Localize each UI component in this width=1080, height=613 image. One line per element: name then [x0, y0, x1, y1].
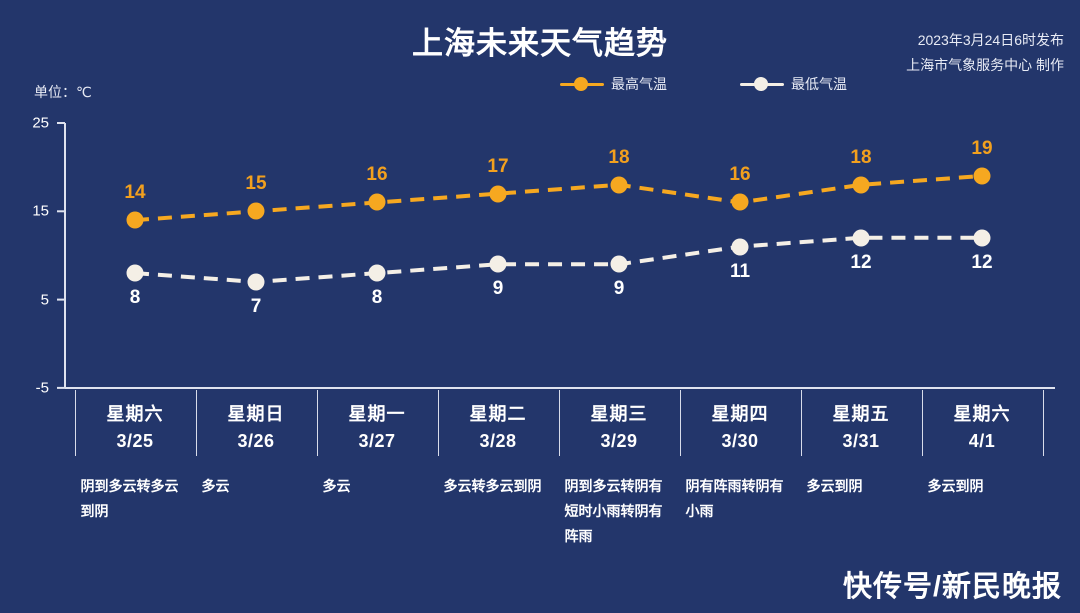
day-name: 星期五	[801, 400, 922, 426]
day-date: 3/25	[75, 431, 196, 452]
data-point-label: 18	[589, 147, 649, 169]
y-axis-tick-label: -5	[9, 379, 49, 396]
column-divider	[75, 390, 76, 456]
day-date: 3/30	[680, 431, 801, 452]
weather-chart-page: 上海未来天气趋势 2023年3月24日6时发布 上海市气象服务中心 制作 最高气…	[0, 0, 1080, 613]
data-point-label: 9	[468, 278, 528, 300]
day-name: 星期日	[196, 400, 317, 426]
day-weather-description: 多云转多云到阴	[438, 474, 559, 499]
data-point-marker	[853, 176, 870, 193]
day-name: 星期六	[922, 400, 1043, 426]
axis-unit-label: 单位：℃	[34, 82, 92, 102]
day-weather-description: 阴到多云转多云到阴	[75, 474, 196, 524]
data-point-label: 9	[589, 278, 649, 300]
column-divider	[922, 390, 923, 456]
data-point-label: 19	[952, 138, 1012, 160]
column-divider	[1043, 390, 1044, 456]
column-divider	[317, 390, 318, 456]
data-point-label: 12	[831, 252, 891, 274]
y-axis-tick-label: 5	[9, 291, 49, 308]
day-column[interactable]: 星期六3/25阴到多云转多云到阴	[75, 392, 196, 524]
day-date: 3/28	[438, 431, 559, 452]
day-name: 星期四	[680, 400, 801, 426]
data-point-marker	[974, 167, 991, 184]
column-divider	[680, 390, 681, 456]
legend-item-high-temp: 最高气温	[560, 72, 667, 96]
day-column[interactable]: 星期六4/1多云到阴	[922, 392, 1043, 499]
publish-meta: 2023年3月24日6时发布 上海市气象服务中心 制作	[906, 28, 1064, 78]
day-date: 3/27	[317, 431, 438, 452]
data-point-marker	[248, 203, 265, 220]
data-point-label: 16	[347, 164, 407, 186]
data-point-marker	[127, 265, 144, 282]
day-weather-description: 多云	[317, 474, 438, 499]
legend-label-low: 最低气温	[791, 74, 847, 94]
data-point-marker	[127, 212, 144, 229]
day-column[interactable]: 星期五3/31多云到阴	[801, 392, 922, 499]
day-date: 4/1	[922, 431, 1043, 452]
legend-label-high: 最高气温	[611, 74, 667, 94]
producer: 上海市气象服务中心 制作	[906, 53, 1064, 78]
data-point-label: 16	[710, 164, 770, 186]
column-divider	[559, 390, 560, 456]
data-point-label: 15	[226, 173, 286, 195]
data-point-marker	[611, 176, 628, 193]
data-point-label: 8	[105, 287, 165, 309]
day-name: 星期三	[559, 400, 680, 426]
data-point-marker	[490, 185, 507, 202]
day-weather-description: 多云	[196, 474, 317, 499]
data-point-marker	[611, 256, 628, 273]
legend-item-low-temp: 最低气温	[740, 72, 847, 96]
watermark: 快传号/新民晚报	[843, 563, 1062, 605]
data-point-label: 8	[347, 287, 407, 309]
data-point-marker	[853, 229, 870, 246]
data-point-label: 7	[226, 296, 286, 318]
data-point-label: 12	[952, 252, 1012, 274]
day-column[interactable]: 星期四3/30阴有阵雨转阴有小雨	[680, 392, 801, 524]
y-axis-tick-label: 25	[9, 115, 49, 132]
day-column[interactable]: 星期一3/27多云	[317, 392, 438, 499]
data-point-marker	[248, 273, 265, 290]
data-point-label: 14	[105, 182, 165, 204]
day-date: 3/26	[196, 431, 317, 452]
day-weather-description: 阴有阵雨转阴有小雨	[680, 474, 801, 524]
column-divider	[801, 390, 802, 456]
day-date: 3/31	[801, 431, 922, 452]
data-point-marker	[369, 194, 386, 211]
day-column[interactable]: 星期三3/29阴到多云转阴有短时小雨转阴有阵雨	[559, 392, 680, 549]
day-weather-description: 多云到阴	[922, 474, 1043, 499]
y-axis-tick-label: 15	[9, 203, 49, 220]
data-point-marker	[369, 265, 386, 282]
day-name: 星期六	[75, 400, 196, 426]
legend-marker-high-icon	[560, 77, 604, 91]
legend-marker-low-icon	[740, 77, 784, 91]
chart-legend: 最高气温 最低气温	[560, 72, 880, 96]
data-point-marker	[490, 256, 507, 273]
day-column[interactable]: 星期二3/28多云转多云到阴	[438, 392, 559, 499]
data-point-marker	[974, 229, 991, 246]
day-column[interactable]: 星期日3/26多云	[196, 392, 317, 499]
column-divider	[196, 390, 197, 456]
data-point-label: 17	[468, 156, 528, 178]
data-point-marker	[732, 194, 749, 211]
publish-time: 2023年3月24日6时发布	[906, 28, 1064, 53]
day-weather-description: 多云到阴	[801, 474, 922, 499]
day-name: 星期二	[438, 400, 559, 426]
day-weather-description: 阴到多云转阴有短时小雨转阴有阵雨	[559, 474, 680, 549]
day-name: 星期一	[317, 400, 438, 426]
column-divider	[438, 390, 439, 456]
data-point-label: 11	[710, 261, 770, 283]
data-point-label: 18	[831, 147, 891, 169]
data-point-marker	[732, 238, 749, 255]
day-date: 3/29	[559, 431, 680, 452]
